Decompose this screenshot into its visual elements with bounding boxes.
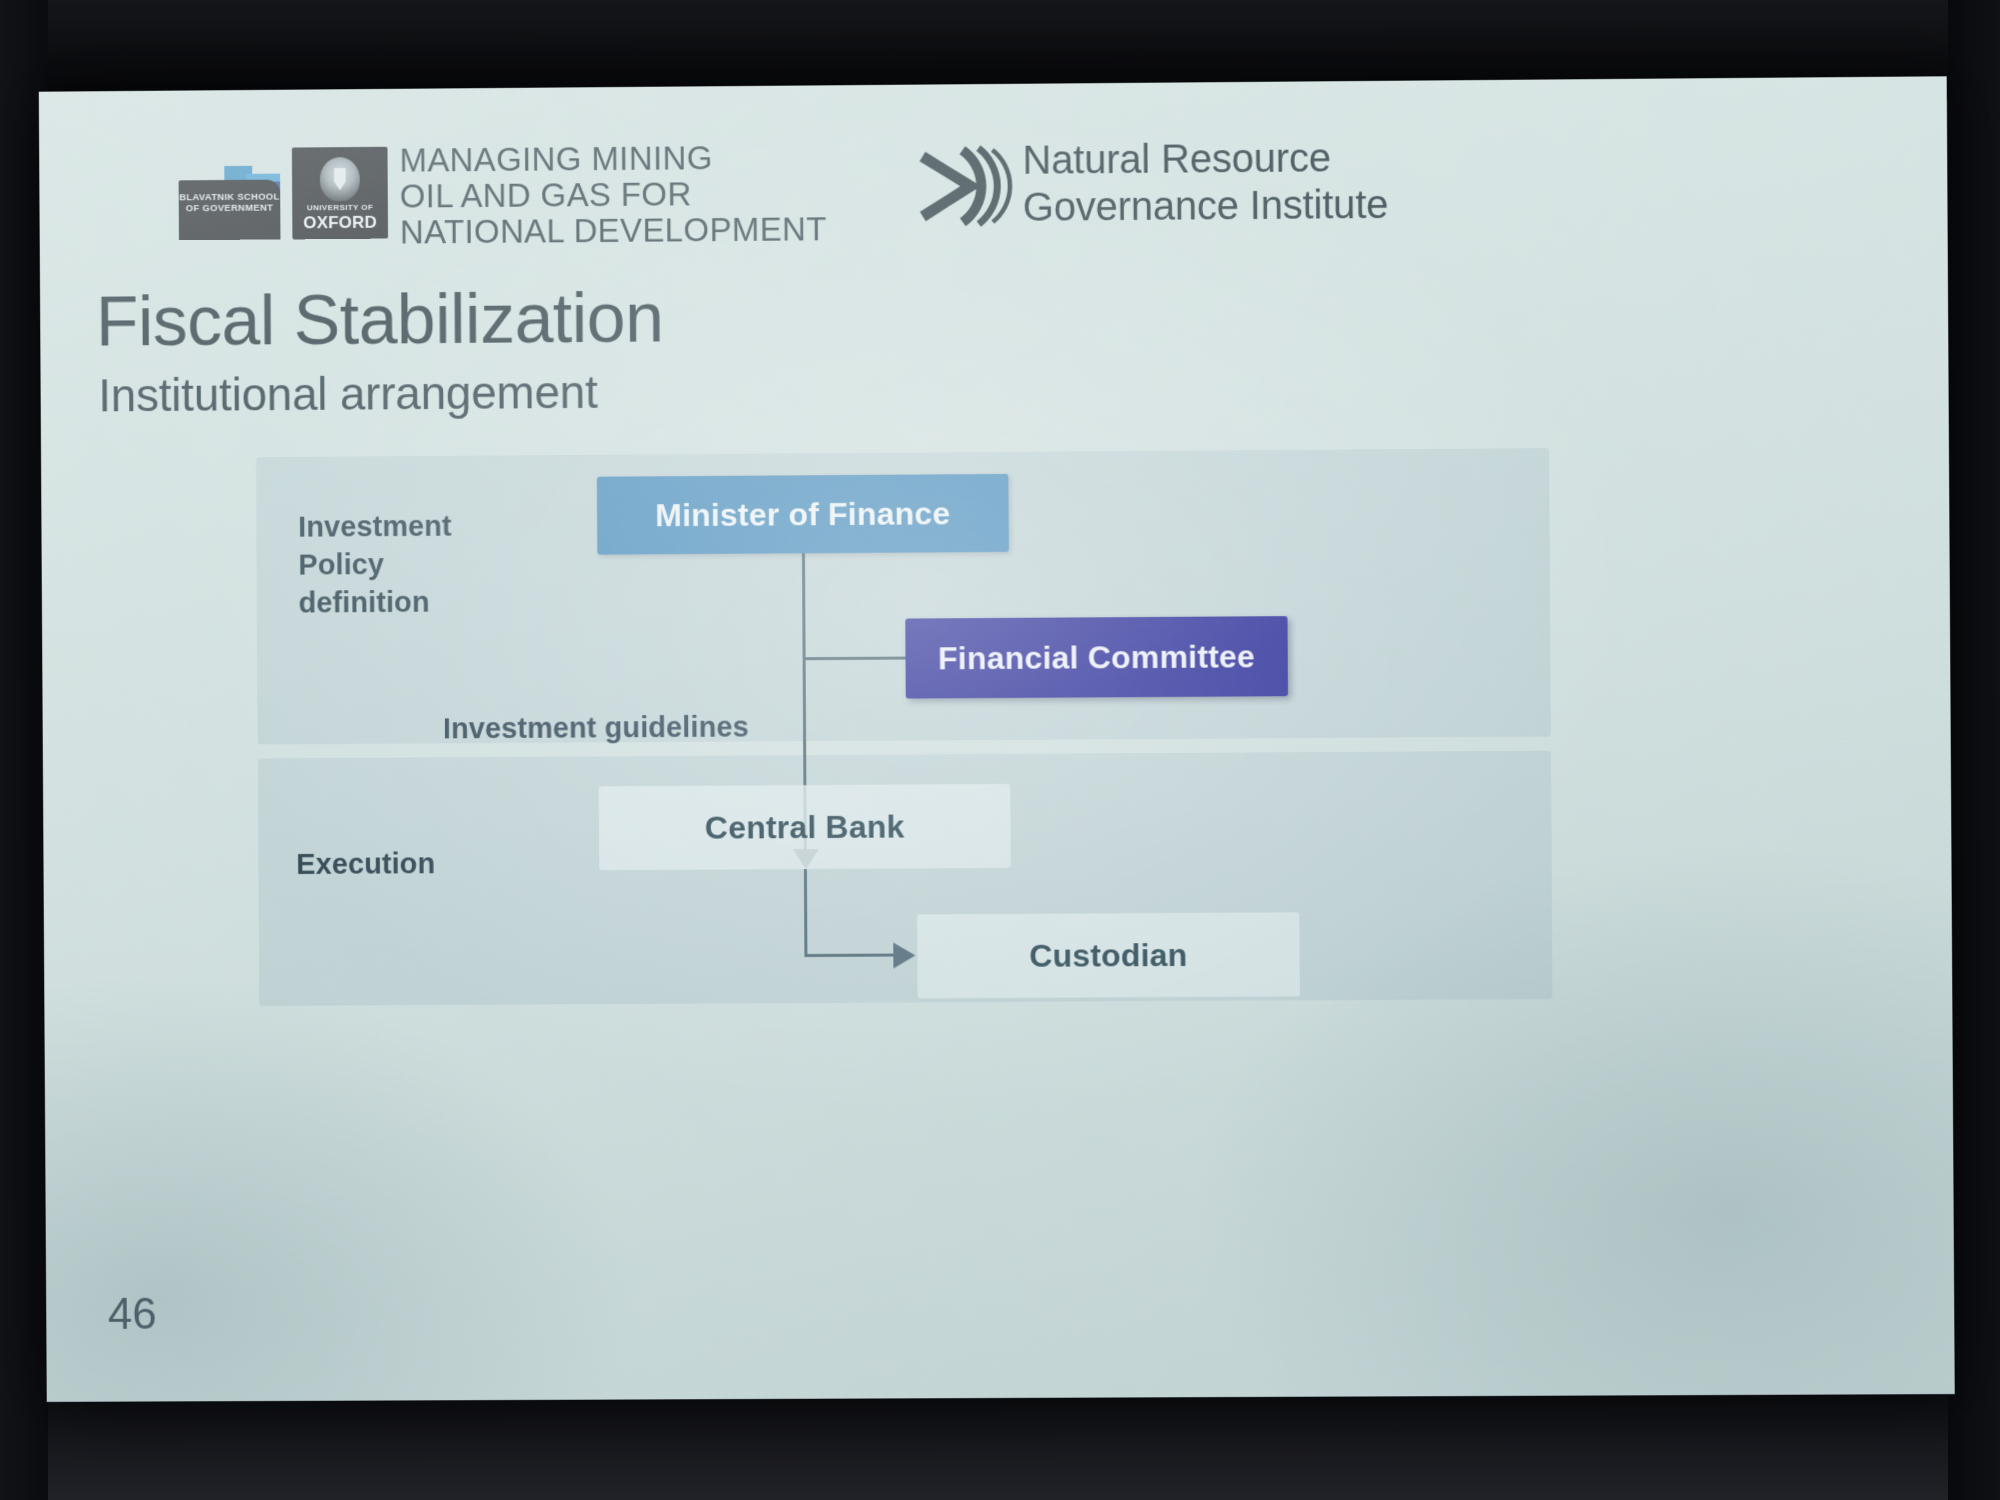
course-title-text: MANAGING MINING OIL AND GAS FOR NATIONAL…: [399, 139, 827, 250]
node-custodian[interactable]: Custodian: [917, 912, 1300, 998]
nrgi-arcs-icon: [904, 138, 1013, 235]
slide-header: BLAVATNIK SCHOOL OF GOVERNMENT UNIVERSIT…: [166, 125, 1867, 248]
slide-page-number: 46: [108, 1290, 157, 1340]
row-label-execution: Execution: [296, 845, 435, 884]
node-central-bank[interactable]: Central Bank: [599, 784, 1011, 870]
room-wall-right: [1948, 0, 2000, 1500]
slide-content: BLAVATNIK SCHOOL OF GOVERNMENT UNIVERSIT…: [39, 76, 1955, 1402]
row-label-policy-definition: Investment Policy definition: [298, 508, 452, 623]
oxford-crest-icon: [320, 157, 360, 201]
page-title: Fiscal Stabilization: [96, 278, 664, 360]
nrgi-name-text: Natural Resource Governance Institute: [1022, 135, 1388, 232]
projector-screen: BLAVATNIK SCHOOL OF GOVERNMENT UNIVERSIT…: [39, 76, 1955, 1402]
connector-central-bank-to-custodian: [804, 954, 900, 958]
oxford-wordmark: OXFORD: [292, 213, 388, 234]
institutional-arrangement-diagram: Investment Policy definition Execution M…: [256, 448, 1559, 1016]
blavatnik-school-logo-icon: BLAVATNIK SCHOOL OF GOVERNMENT: [178, 148, 280, 241]
oxford-university-label: UNIVERSITY OF: [292, 203, 388, 213]
node-minister-of-finance[interactable]: Minister of Finance: [597, 474, 1009, 555]
room-wall-bottom: [0, 1390, 2000, 1500]
node-financial-committee[interactable]: Financial Committee: [905, 616, 1288, 698]
edge-label-investment-guidelines: Investment guidelines: [443, 712, 749, 747]
blavatnik-logo-label: BLAVATNIK SCHOOL OF GOVERNMENT: [179, 192, 281, 215]
arrowhead-to-custodian: [893, 942, 915, 968]
projected-slide-photograph: BLAVATNIK SCHOOL OF GOVERNMENT UNIVERSIT…: [0, 0, 2000, 1500]
page-subtitle: Institutional arrangement: [98, 365, 598, 422]
connector-central-bank-down: [804, 869, 808, 957]
university-of-oxford-logo-icon: UNIVERSITY OF OXFORD: [292, 147, 388, 240]
